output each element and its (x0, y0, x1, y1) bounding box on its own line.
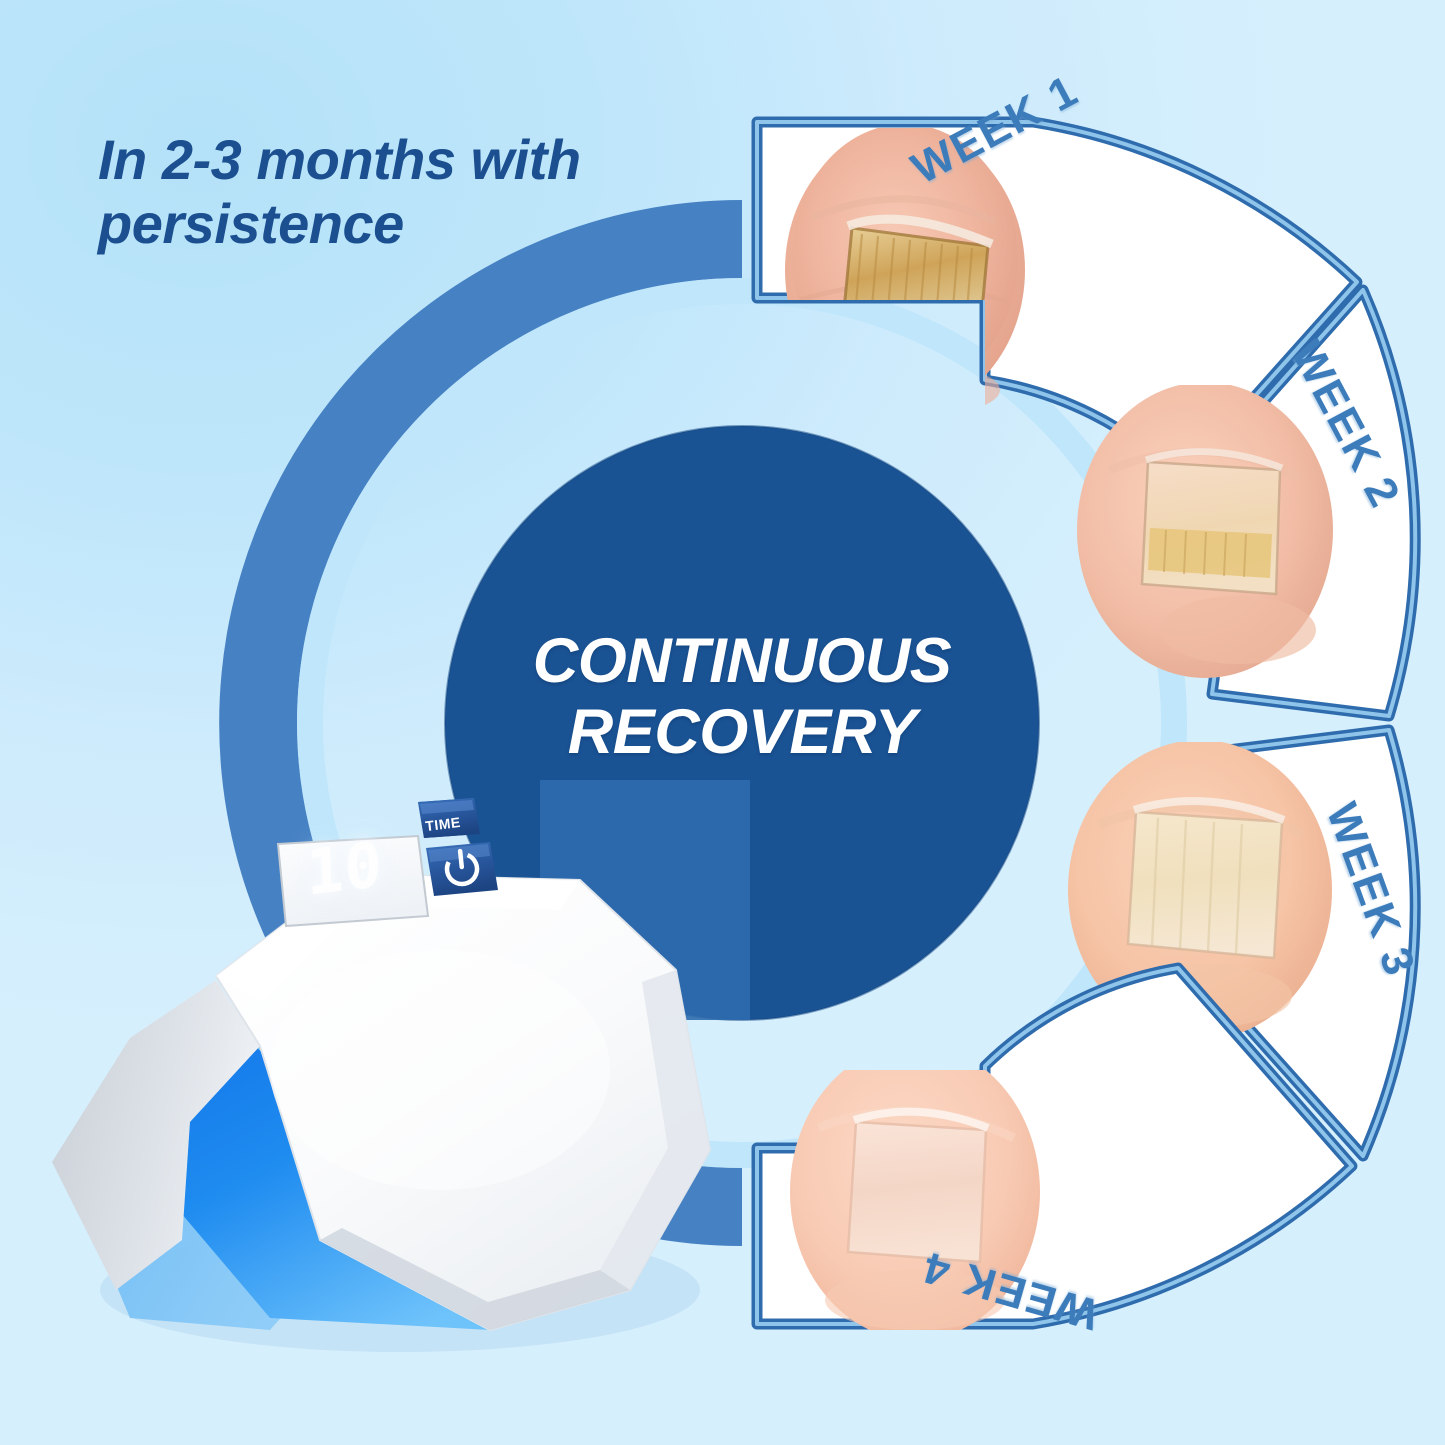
nail-photo-week-2 (1077, 382, 1333, 678)
laser-therapy-device[interactable] (20, 770, 780, 1370)
device-display-value: 10 (291, 825, 398, 911)
page-title: In 2-3 months with persistence (98, 128, 698, 256)
infographic-canvas: In 2-3 months with persistence CONTINUOU… (0, 0, 1445, 1445)
power-button[interactable] (426, 842, 498, 896)
center-heading: CONTINUOUS RECOVERY (472, 626, 1012, 767)
